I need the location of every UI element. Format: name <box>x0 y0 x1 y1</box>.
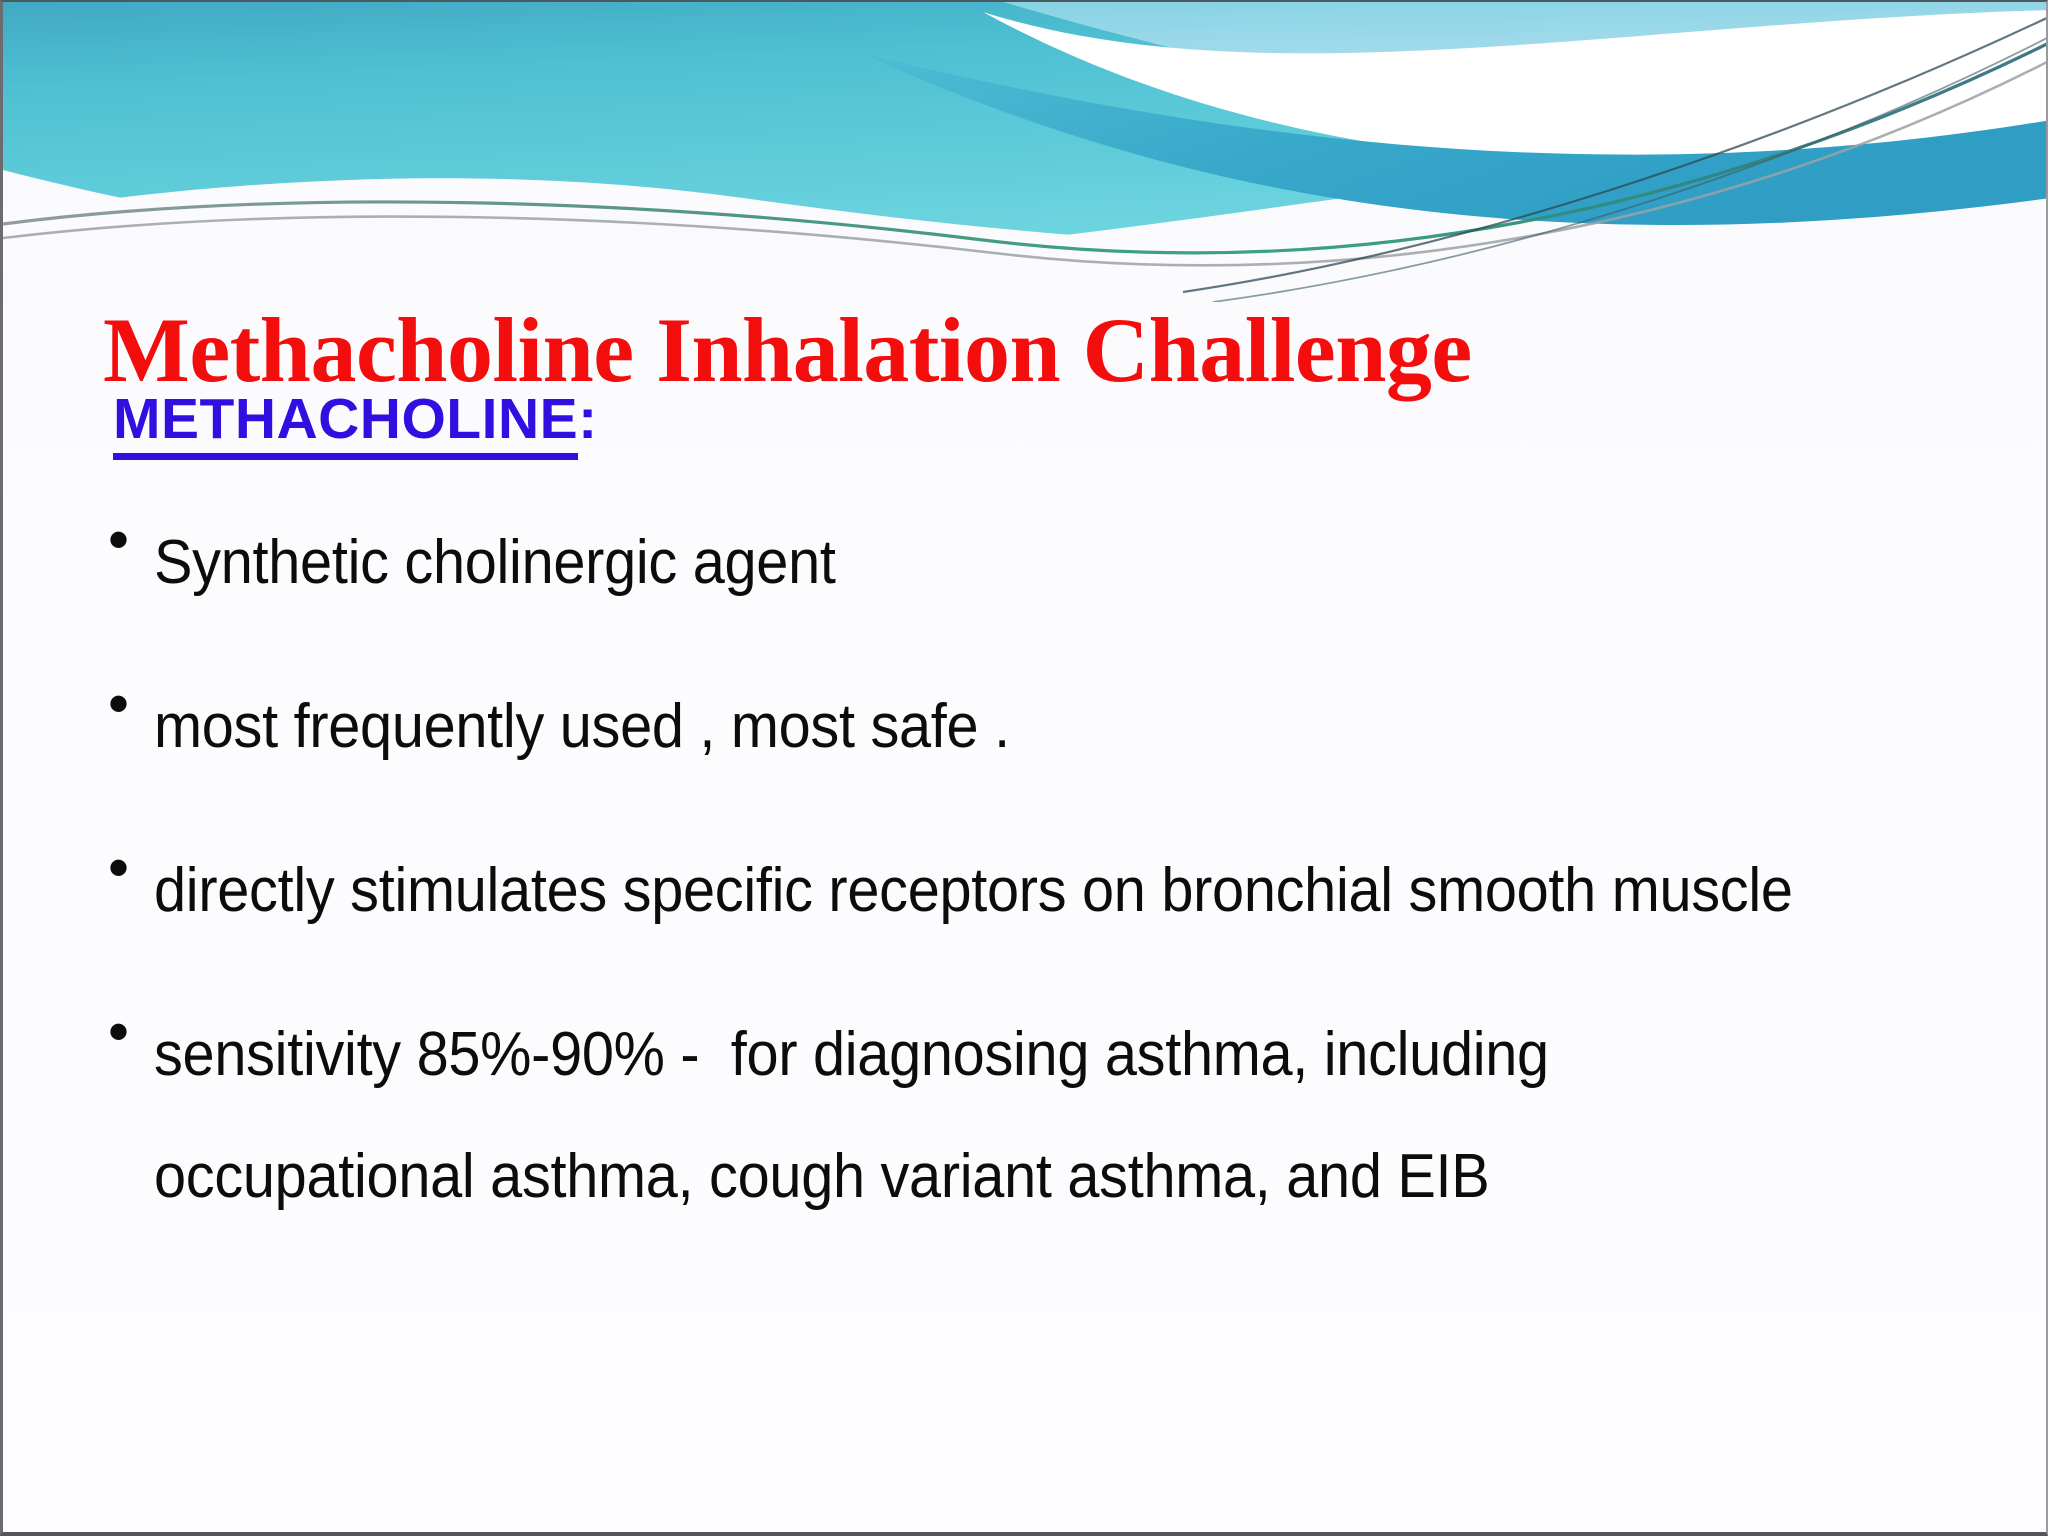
presentation-slide: Methacholine Inhalation Challenge METHAC… <box>0 0 2048 1536</box>
page-title: Methacholine Inhalation Challenge <box>103 302 1953 398</box>
subtitle-heading: METHACHOLINE: <box>113 388 598 450</box>
list-item: • Synthetic cholinergic agent <box>108 502 1978 624</box>
bullet-point-icon: • <box>108 666 154 742</box>
subtitle-colon: : <box>578 387 597 451</box>
slide-content: Methacholine Inhalation Challenge METHAC… <box>3 2 2048 1536</box>
list-item-text: sensitivity 85%-90% - for diagnosing ast… <box>154 994 1850 1238</box>
bullet-point-icon: • <box>108 502 154 578</box>
bullet-point-icon: • <box>108 994 154 1070</box>
list-item-text: directly stimulates specific receptors o… <box>154 830 1850 952</box>
list-item-text: Synthetic cholinergic agent <box>154 502 1850 624</box>
list-item: • directly stimulates specific receptors… <box>108 830 1978 952</box>
list-item: • most frequently used , most safe . <box>108 666 1978 788</box>
list-item-text: most frequently used , most safe . <box>154 666 1850 788</box>
subtitle-row: METHACHOLINE: <box>113 388 598 450</box>
list-item: • sensitivity 85%-90% - for diagnosing a… <box>108 994 1978 1238</box>
bullet-point-icon: • <box>108 830 154 906</box>
bullet-list: • Synthetic cholinergic agent • most fre… <box>108 502 1978 1280</box>
title-block: Methacholine Inhalation Challenge <box>103 302 1953 398</box>
subtitle-heading-text: METHACHOLINE <box>113 387 578 460</box>
